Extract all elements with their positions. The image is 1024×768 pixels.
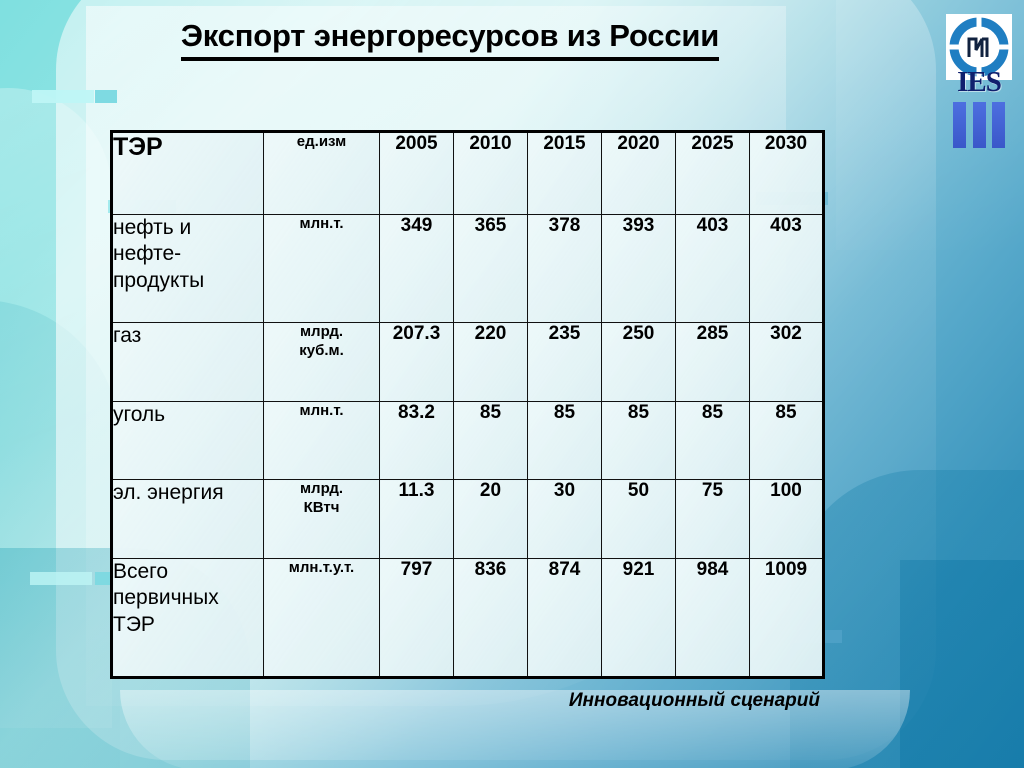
row-label-oil: нефть и нефте- продукты	[112, 215, 264, 323]
table-row: газ млрд. куб.м. 207.3 220 235 250 285 3…	[112, 323, 824, 402]
cell-total-2030: 1009	[750, 559, 824, 678]
row-unit-line: КВтч	[264, 499, 379, 518]
row-label-total: Всего первичных ТЭР	[112, 559, 264, 678]
cell-electricity-2005: 11.3	[380, 480, 454, 559]
row-label-line: продукты	[113, 268, 263, 294]
header-cell-2025: 2025	[676, 132, 750, 215]
cell-coal-2015: 85	[528, 402, 602, 480]
background-shape-bottom-right	[790, 470, 1024, 768]
cell-coal-2030: 85	[750, 402, 824, 480]
row-label-gas: газ	[112, 323, 264, 402]
cell-gas-2020: 250	[602, 323, 676, 402]
slide-canvas: Экспорт энергоресурсов из России IES	[0, 0, 1024, 768]
slide-title-text: Экспорт энергоресурсов из России	[181, 18, 719, 61]
background-shape-bottom-right-dark	[900, 560, 1024, 768]
cell-total-2020: 921	[602, 559, 676, 678]
row-label-electricity: эл. энергия	[112, 480, 264, 559]
table-row: уголь млн.т. 83.2 85 85 85 85 85	[112, 402, 824, 480]
row-label-line: нефть и	[113, 215, 263, 241]
row-unit-line: млрд.	[264, 480, 379, 499]
cell-oil-2020: 393	[602, 215, 676, 323]
energy-export-table-container: ТЭР ед.изм 2005 2010 2015 2020 2025 2030…	[110, 130, 824, 679]
cell-total-2010: 836	[454, 559, 528, 678]
cell-oil-2030: 403	[750, 215, 824, 323]
scenario-caption: Инновационный сценарий	[0, 690, 820, 712]
header-cell-2010: 2010	[454, 132, 528, 215]
cell-electricity-2015: 30	[528, 480, 602, 559]
cell-electricity-2030: 100	[750, 480, 824, 559]
header-cell-unit: ед.изм	[264, 132, 380, 215]
row-label-line: нефте-	[113, 241, 263, 267]
row-label-coal: уголь	[112, 402, 264, 480]
cell-coal-2010: 85	[454, 402, 528, 480]
cell-total-2005: 797	[380, 559, 454, 678]
row-unit-coal: млн.т.	[264, 402, 380, 480]
row-unit-line: млн.т.у.т.	[264, 559, 379, 578]
cell-coal-2025: 85	[676, 402, 750, 480]
slide-title: Экспорт энергоресурсов из России	[0, 18, 900, 54]
three-bars-icon	[953, 102, 1005, 148]
row-label-line: газ	[113, 323, 263, 349]
cell-total-2015: 874	[528, 559, 602, 678]
energy-export-table: ТЭР ед.изм 2005 2010 2015 2020 2025 2030…	[110, 130, 825, 679]
cell-coal-2020: 85	[602, 402, 676, 480]
row-label-line: Всего	[113, 559, 263, 585]
cell-oil-2005: 349	[380, 215, 454, 323]
cell-electricity-2010: 20	[454, 480, 528, 559]
cell-gas-2010: 220	[454, 323, 528, 402]
cell-gas-2025: 285	[676, 323, 750, 402]
header-cell-2005: 2005	[380, 132, 454, 215]
organization-logo: IES	[941, 14, 1017, 148]
table-row: эл. энергия млрд. КВтч 11.3 20 30 50 75 …	[112, 480, 824, 559]
header-cell-2030: 2030	[750, 132, 824, 215]
background-shape-left-pill	[0, 88, 112, 728]
table-row: нефть и нефте- продукты млн.т. 349 365 3…	[112, 215, 824, 323]
row-unit-oil: млн.т.	[264, 215, 380, 323]
cell-gas-2015: 235	[528, 323, 602, 402]
cell-coal-2005: 83.2	[380, 402, 454, 480]
header-cell-2020: 2020	[602, 132, 676, 215]
header-cell-2015: 2015	[528, 132, 602, 215]
cell-oil-2025: 403	[676, 215, 750, 323]
cell-electricity-2020: 50	[602, 480, 676, 559]
row-unit-gas: млрд. куб.м.	[264, 323, 380, 402]
table-row-total: Всего первичных ТЭР млн.т.у.т. 797 836 8…	[112, 559, 824, 678]
row-unit-line: куб.м.	[264, 342, 379, 361]
accent-bar-mid-left	[30, 572, 92, 585]
header-cell-resource: ТЭР	[112, 132, 264, 215]
accent-bar-top-left	[32, 90, 94, 103]
row-label-line: первичных	[113, 585, 263, 611]
row-label-line: эл. энергия	[113, 480, 263, 506]
cell-total-2025: 984	[676, 559, 750, 678]
row-unit-electricity: млрд. КВтч	[264, 480, 380, 559]
cell-electricity-2025: 75	[676, 480, 750, 559]
row-unit-line: млн.т.	[264, 215, 379, 234]
cell-oil-2010: 365	[454, 215, 528, 323]
row-unit-total: млн.т.у.т.	[264, 559, 380, 678]
accent-bar-top-left-dark	[95, 90, 117, 103]
cell-gas-2005: 207.3	[380, 323, 454, 402]
table-header-row: ТЭР ед.изм 2005 2010 2015 2020 2025 2030	[112, 132, 824, 215]
cell-oil-2015: 378	[528, 215, 602, 323]
row-label-line: уголь	[113, 402, 263, 428]
cell-gas-2030: 302	[750, 323, 824, 402]
row-label-line: ТЭР	[113, 612, 263, 638]
row-unit-line: млрд.	[264, 323, 379, 342]
row-unit-line: млн.т.	[264, 402, 379, 421]
